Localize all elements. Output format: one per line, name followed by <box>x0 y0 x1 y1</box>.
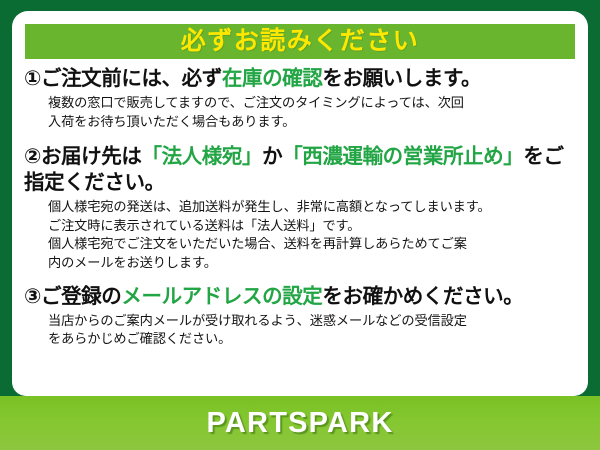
notice-item-1-heading: ①ご注文前には、必ず在庫の確認をお願いします。 <box>24 66 578 92</box>
notice-item-2: ②お届け先は「法人様宛」か「西濃運輸の営業所止め」をご指定ください。 個人様宅宛… <box>24 144 578 273</box>
notice-item-3-subline-2: をあらかじめご確認ください。 <box>48 330 578 349</box>
notice-item-3-head-pre: ご登録の <box>41 285 121 308</box>
notice-item-2-head-mid: か <box>262 145 282 168</box>
notice-item-3-subline-1: 当店からのご案内メールが受け取れるよう、迷惑メールなどの受信設定 <box>48 312 578 331</box>
notice-item-2-subline-1: 個人様宅宛の発送は、追加送料が発生し、非常に高額となってしまいます。 <box>48 198 578 217</box>
notice-header-band: 必ずお読みください <box>25 24 575 59</box>
notice-item-3-marker: ③ <box>24 285 41 308</box>
notice-item-2-subline-3: 個人様宅宛でご注文をいただいた場合、送料を再計算しあらためてご案 <box>48 235 578 254</box>
notice-item-1-subtext: 複数の窓口で販売してますので、ご注文のタイミングによっては、次回 入荷をお待ち頂… <box>24 94 578 131</box>
notice-item-1-head-pre: ご注文前には、必ず <box>41 67 222 90</box>
notice-item-2-subline-4: 内のメールをお送りします。 <box>48 254 578 273</box>
notice-item-1-subline-2: 入荷をお待ち頂いただく場合もあります。 <box>48 113 578 132</box>
notice-item-3-heading: ③ご登録のメールアドレスの設定をお確かめください。 <box>24 284 578 310</box>
notice-item-3-subtext: 当店からのご案内メールが受け取れるよう、迷惑メールなどの受信設定 をあらかじめご… <box>24 312 578 349</box>
notice-item-2-subtext: 個人様宅宛の発送は、追加送料が発生し、非常に高額となってしまいます。 ご注文時に… <box>24 198 578 273</box>
notice-item-1-subline-1: 複数の窓口で販売してますので、ご注文のタイミングによっては、次回 <box>48 94 578 113</box>
notice-item-3-head-post: をお確かめください。 <box>322 285 523 308</box>
notice-item-1-head-post: をお願いします。 <box>322 67 481 90</box>
footer-logo-band: PARTSPARK <box>0 396 600 450</box>
brand-logo-partspark: PARTSPARK <box>207 409 394 438</box>
notice-item-2-head-highlight: 「法人様宛」 <box>141 145 262 168</box>
notice-item-2-head-pre: お届け先は <box>41 145 142 168</box>
notice-item-2-heading: ②お届け先は「法人様宛」か「西濃運輸の営業所止め」をご指定ください。 <box>24 144 578 196</box>
notice-item-1-head-highlight: 在庫の確認 <box>222 67 323 90</box>
notice-content: ①ご注文前には、必ず在庫の確認をお願いします。 複数の窓口で販売してますので、ご… <box>12 66 588 353</box>
notice-panel: 必ずお読みください ①ご注文前には、必ず在庫の確認をお願いします。 複数の窓口で… <box>12 11 588 396</box>
notice-item-2-marker: ② <box>24 145 41 168</box>
notice-item-1-marker: ① <box>24 67 41 90</box>
notice-item-2-subline-2: ご注文時に表示されている送料は「法人送料」です。 <box>48 217 578 236</box>
notice-banner: 必ずお読みください ①ご注文前には、必ず在庫の確認をお願いします。 複数の窓口で… <box>0 0 600 450</box>
page-title: 必ずお読みください <box>181 29 420 54</box>
notice-item-2-head-highlight-2: 「西濃運輸の営業所止め」 <box>282 145 523 168</box>
notice-item-1: ①ご注文前には、必ず在庫の確認をお願いします。 複数の窓口で販売してますので、ご… <box>24 66 578 131</box>
notice-item-3-head-highlight: メールアドレスの設定 <box>121 285 322 308</box>
notice-item-3: ③ご登録のメールアドレスの設定をお確かめください。 当店からのご案内メールが受け… <box>24 284 578 349</box>
